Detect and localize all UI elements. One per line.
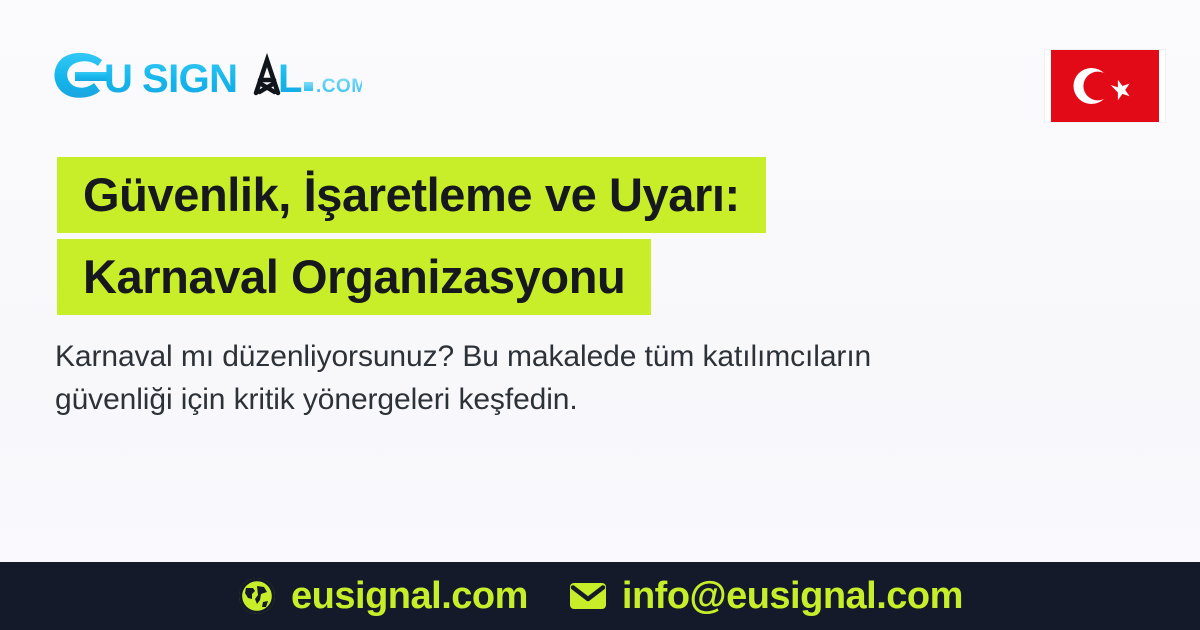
logo-e-mark xyxy=(54,53,107,98)
headline-line-1-text: Güvenlik, İşaretleme ve Uyarı: xyxy=(57,157,766,233)
description-line-2: güvenliği için kritik yönergeleri keşfed… xyxy=(55,379,1105,422)
footer-email-label: info@eusignal.com xyxy=(622,577,963,615)
headline-line-2-text: Karnaval Organizasyonu xyxy=(57,239,651,315)
svg-text:SIGN: SIGN xyxy=(142,57,238,101)
article-share-banner: U SIGN L .COM xyxy=(0,0,1200,630)
eusignal-logo[interactable]: U SIGN L .COM xyxy=(50,50,362,102)
turkey-flag xyxy=(1045,50,1165,122)
banner-header: U SIGN L .COM xyxy=(0,0,1200,150)
eusignal-logo-mark: U SIGN L .COM xyxy=(50,50,362,102)
envelope-icon xyxy=(568,576,608,616)
headline-line-2: Karnaval Organizasyonu xyxy=(57,239,1147,315)
logo-antenna-a-icon xyxy=(256,60,278,93)
turkey-flag-icon xyxy=(1051,50,1159,122)
footer-website-link[interactable]: eusignal.com xyxy=(237,576,528,616)
logo-tld: .COM xyxy=(304,76,362,97)
article-description: Karnaval mı düzenliyorsunuz? Bu makalede… xyxy=(55,336,1105,421)
svg-text:.COM: .COM xyxy=(316,76,362,97)
headline-line-1: Güvenlik, İşaretleme ve Uyarı: xyxy=(57,157,1147,233)
contact-footer: eusignal.com info@eusignal.com xyxy=(0,562,1200,630)
footer-email-link[interactable]: info@eusignal.com xyxy=(568,576,963,616)
svg-text:L: L xyxy=(278,57,302,101)
footer-website-label: eusignal.com xyxy=(291,577,528,615)
description-line-1: Karnaval mı düzenliyorsunuz? Bu makalede… xyxy=(55,336,1105,379)
globe-icon xyxy=(237,576,277,616)
svg-text:U: U xyxy=(104,57,133,101)
page-title: Güvenlik, İşaretleme ve Uyarı: Karnaval … xyxy=(57,157,1147,315)
